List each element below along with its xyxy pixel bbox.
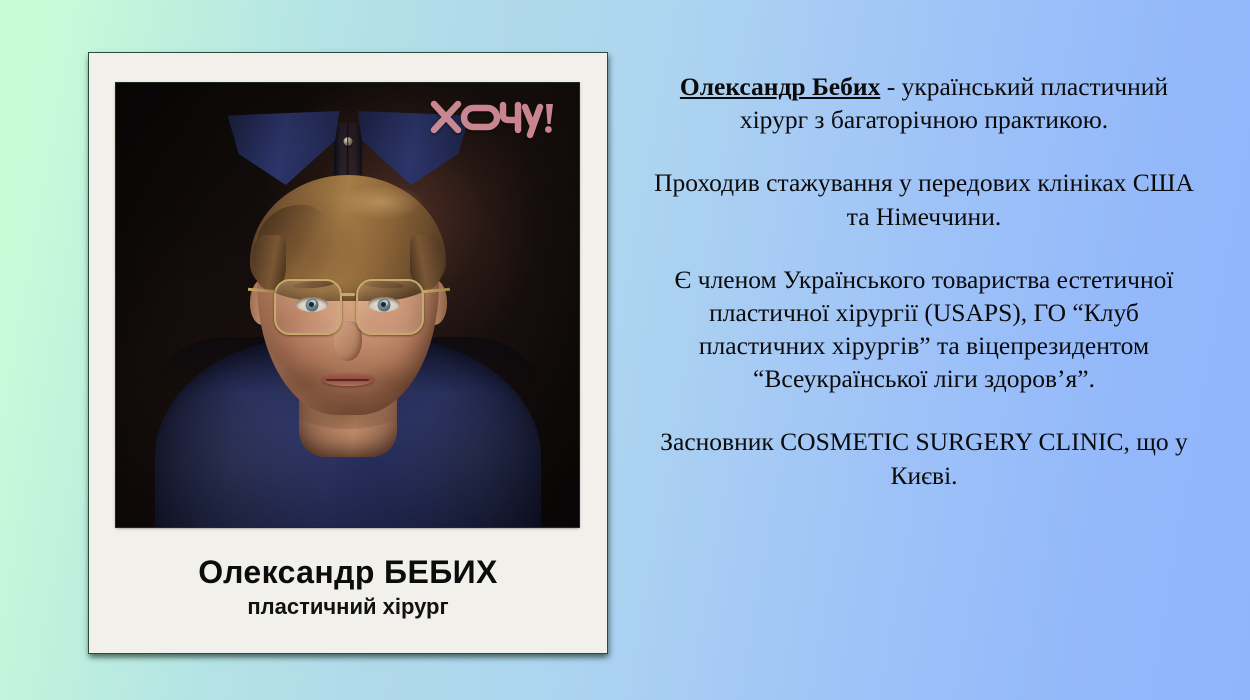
bio-lead-name: Олександр Бебих <box>680 72 880 101</box>
caption-name: Олександр БЕБИХ <box>198 555 498 590</box>
bio-text-block: Олександр Бебих - український пластичний… <box>646 70 1202 492</box>
bio-paragraph-4: Засновник COSMETIC SURGERY CLINIC, що у … <box>646 425 1202 491</box>
bio-paragraph-1: Олександр Бебих - український пластичний… <box>646 70 1202 136</box>
hochu-logo-icon <box>430 97 555 139</box>
caption-role: пластичний хірург <box>247 595 448 619</box>
portrait-photo <box>116 83 579 527</box>
bio-paragraph-2: Проходив стажування у передових клініках… <box>646 166 1202 232</box>
photo-caption: Олександр БЕБИХ пластичний хірург <box>116 527 580 653</box>
photo-card: Олександр БЕБИХ пластичний хірург <box>88 52 608 654</box>
photo-card-zone: Олександр БЕБИХ пластичний хірург <box>88 52 608 654</box>
bio-paragraph-3: Є членом Українського товариства естетич… <box>646 263 1202 396</box>
photo-vignette <box>116 83 579 527</box>
slide-canvas: Олександр БЕБИХ пластичний хірург Олекса… <box>0 0 1250 700</box>
